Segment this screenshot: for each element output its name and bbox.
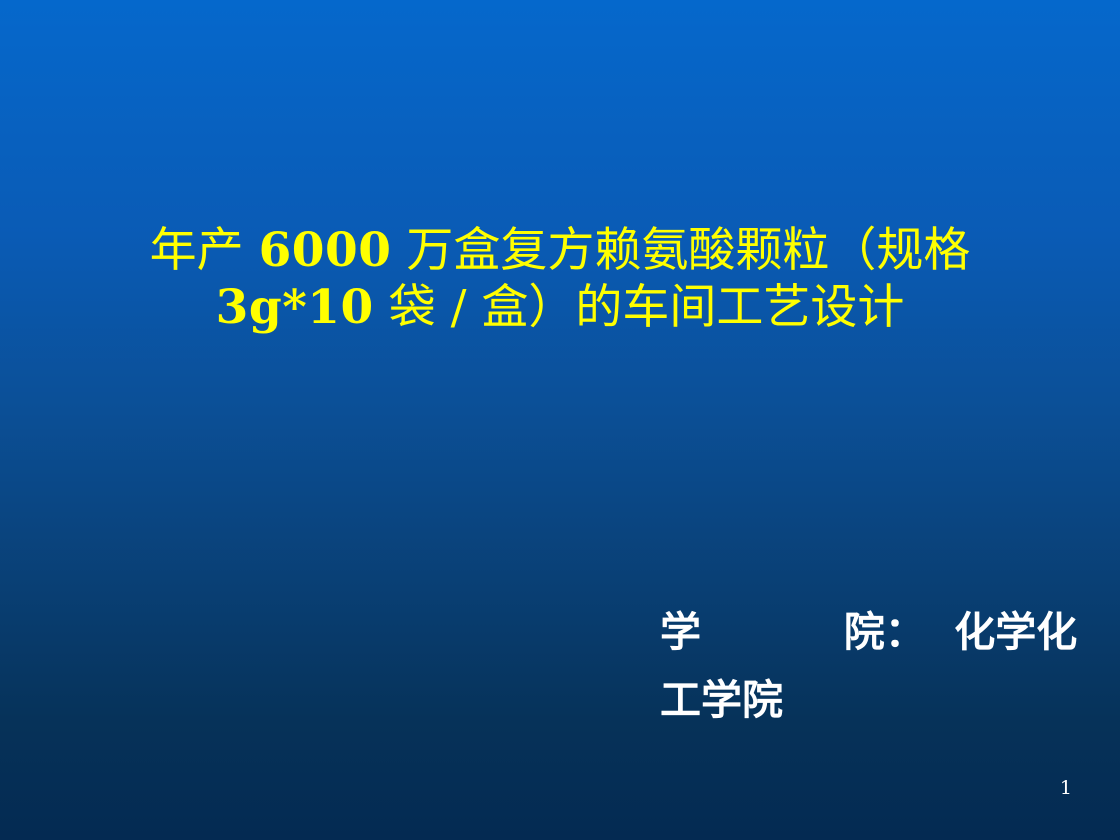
title-line-1-number: 6000 xyxy=(259,223,392,278)
title-line-2: 3g*10 袋 / 盒）的车间工艺设计 xyxy=(60,279,1060,336)
presentation-slide: 年产 6000 万盒复方赖氨酸颗粒（规格 3g*10 袋 / 盒）的车间工艺设计… xyxy=(0,0,1120,840)
info-line-academy: 学 院： 化学化工学院 xyxy=(50,598,1090,734)
title-line-2-suffix: 袋 / 盒）的车间工艺设计 xyxy=(374,280,905,335)
title-line-1-suffix: 万盒复方赖氨酸颗粒（规格 xyxy=(391,223,970,278)
title-line-1: 年产 6000 万盒复方赖氨酸颗粒（规格 xyxy=(60,222,1060,279)
page-number: 1 xyxy=(1060,779,1072,798)
title-line-1-prefix: 年产 xyxy=(150,223,259,278)
title-line-2-number: 3g*10 xyxy=(216,280,374,335)
slide-info-block: 学 院： 化学化工学院 姓 名： 专 业： 制药工程 班 学 号： 指导老师： xyxy=(50,462,1090,840)
slide-title: 年产 6000 万盒复方赖氨酸颗粒（规格 3g*10 袋 / 盒）的车间工艺设计 xyxy=(60,222,1060,337)
